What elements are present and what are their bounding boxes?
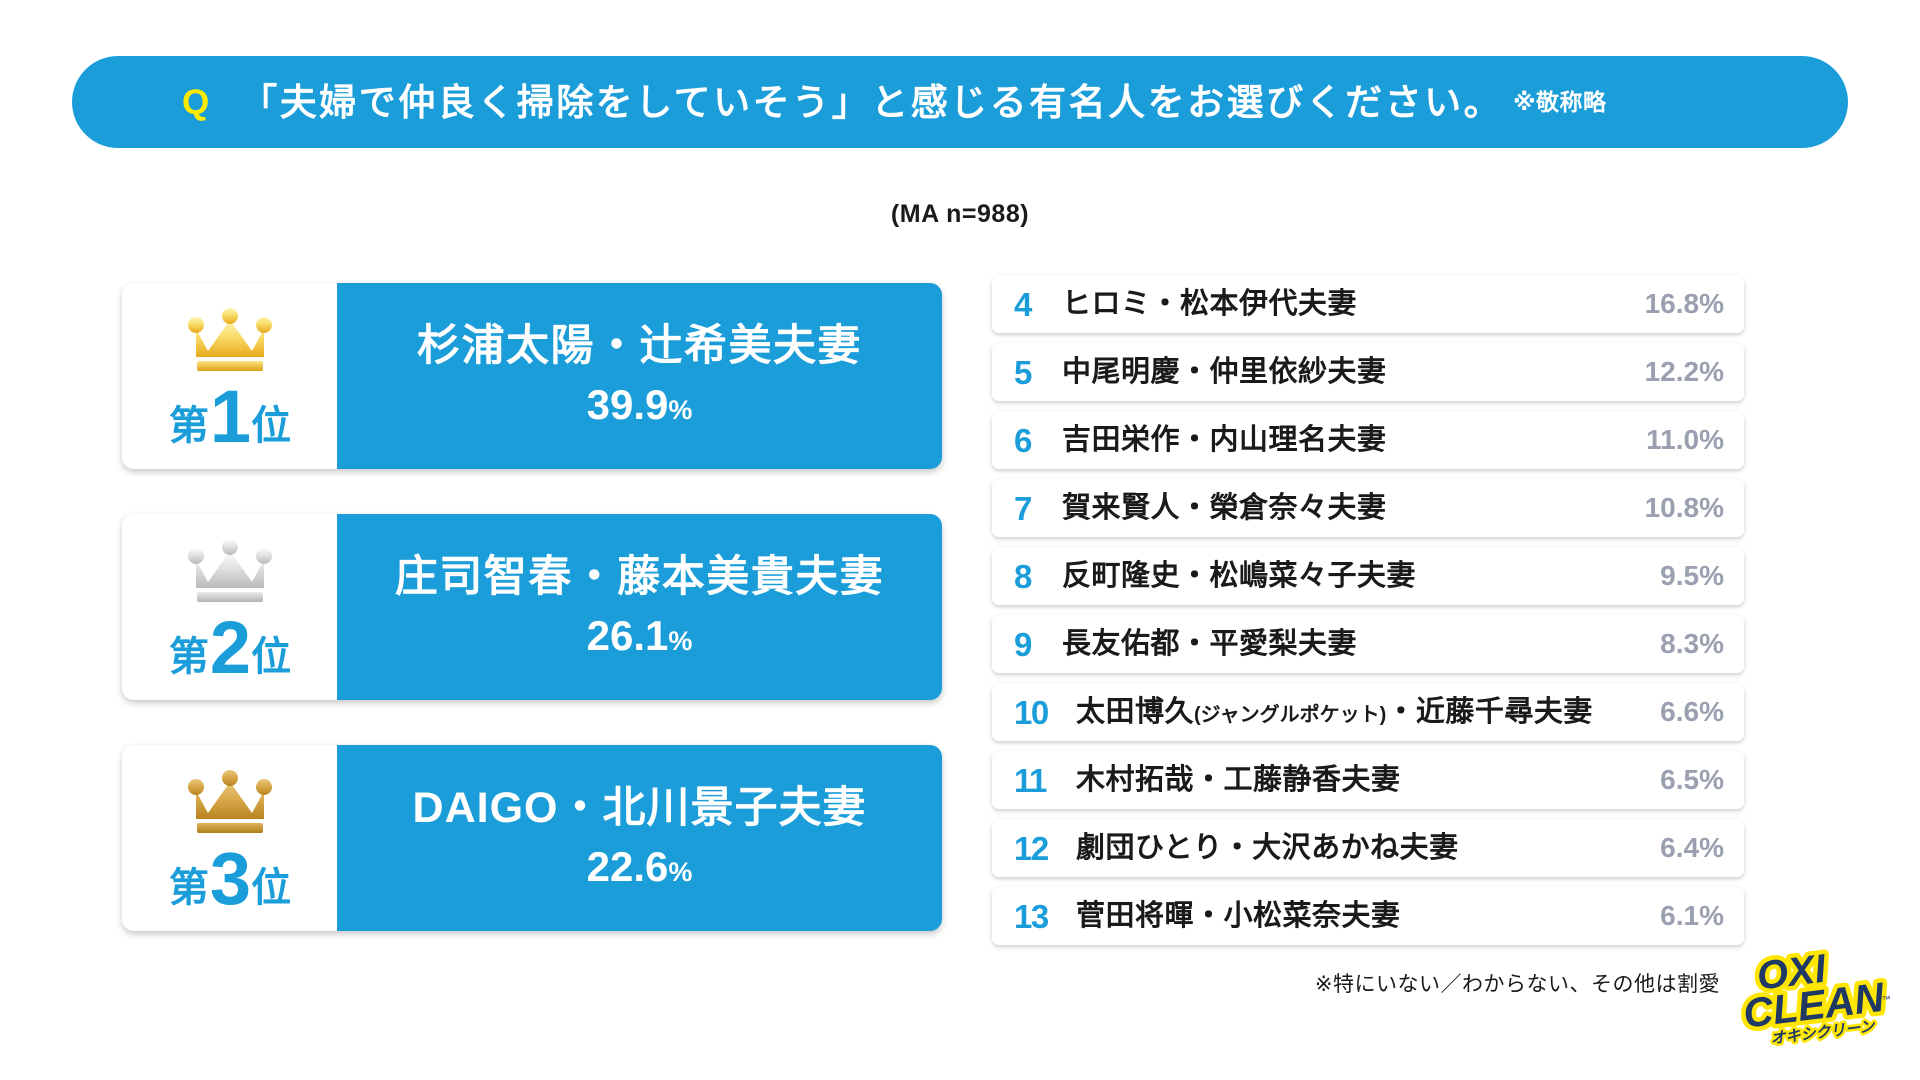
podium-pct-value-3: 22.6 (587, 843, 669, 890)
rank-label-2: 第 2 位 (169, 608, 290, 682)
oxiclean-logo: OXI OXI CLEAN CLEAN ™ オキシクリーン オキシクリーン (1738, 938, 1908, 1054)
podium-name-2: 庄司智春・藤本美貴夫妻 (395, 553, 885, 602)
podium-percentage-1: 39.9% (587, 384, 693, 426)
rank-prefix: 第 (169, 637, 208, 677)
question-banner: Q 「夫婦で仲良く掃除をしていそう」と感じる有名人をお選びください。 ※敬称略 (72, 56, 1848, 148)
list-rank: 11 (1014, 764, 1072, 797)
list-name: 長友佑都・平愛梨夫妻 (1058, 630, 1660, 659)
gold-crown-icon (182, 307, 278, 375)
list-rank: 12 (1014, 832, 1072, 865)
list-rank: 9 (1014, 628, 1058, 661)
list-percentage: 10.8% (1645, 494, 1724, 522)
list-percentage: 6.1% (1660, 902, 1724, 930)
list-name: 劇団ひとり・大沢あかね夫妻 (1072, 834, 1660, 863)
podium-card-rank-2: 第 2 位 庄司智春・藤本美貴夫妻 26.1% (122, 514, 942, 700)
rank-suffix: 位 (251, 637, 290, 677)
bronze-crown-icon (182, 769, 278, 837)
list-name-main: 木村拓哉・工藤静香夫妻 (1076, 764, 1401, 796)
podium-body-2: 庄司智春・藤本美貴夫妻 26.1% (337, 514, 942, 700)
list-percentage: 12.2% (1645, 358, 1724, 386)
podium-card-rank-3: 第 3 位 DAIGO・北川景子夫妻 22.6% (122, 745, 942, 931)
list-name-tail: ・近藤千尋夫妻 (1386, 696, 1593, 728)
svg-text:™: ™ (1881, 994, 1891, 1005)
list-name: 太田博久(ジャングルポケット)・近藤千尋夫妻 (1072, 698, 1660, 727)
list-item: 8 反町隆史・松嶋菜々子夫妻 9.5% (992, 547, 1744, 605)
list-name-main: 中尾明慶・仲里依紗夫妻 (1062, 356, 1387, 388)
footnote-text: ※特にいない／わからない、その他は割愛 (1315, 968, 1720, 998)
list-item: 11 木村拓哉・工藤静香夫妻 6.5% (992, 751, 1744, 809)
rank-badge-3: 第 3 位 (122, 745, 337, 931)
podium-pct-symbol-2: % (668, 626, 692, 656)
question-text: 「夫婦で仲良く掃除をしていそう」と感じる有名人をお選びください。 (240, 84, 1503, 121)
list-name: 中尾明慶・仲里依紗夫妻 (1058, 358, 1645, 387)
rank-badge-1: 第 1 位 (122, 283, 337, 469)
list-rank: 7 (1014, 492, 1058, 525)
list-name: 木村拓哉・工藤静香夫妻 (1072, 766, 1660, 795)
rank-number: 1 (210, 380, 249, 454)
list-percentage: 6.6% (1660, 698, 1724, 726)
list-percentage: 16.8% (1645, 290, 1724, 318)
list-name: 吉田栄作・内山理名夫妻 (1058, 426, 1646, 455)
list-rank: 10 (1014, 696, 1072, 729)
podium-pct-symbol-1: % (668, 395, 692, 425)
rank-suffix: 位 (251, 868, 290, 908)
podium-pct-value-2: 26.1 (587, 612, 669, 659)
list-name-main: 菅田将暉・小松菜奈夫妻 (1076, 900, 1401, 932)
podium-body-1: 杉浦太陽・辻希美夫妻 39.9% (337, 283, 942, 469)
list-name: 反町隆史・松嶋菜々子夫妻 (1058, 562, 1660, 591)
list-name-main: 劇団ひとり・大沢あかね夫妻 (1076, 832, 1459, 864)
honorific-omitted-note: ※敬称略 (1513, 91, 1606, 114)
list-item: 7 賀来賢人・榮倉奈々夫妻 10.8% (992, 479, 1744, 537)
list-percentage: 6.4% (1660, 834, 1724, 862)
list-item: 9 長友佑都・平愛梨夫妻 8.3% (992, 615, 1744, 673)
list-name-main: 反町隆史・松嶋菜々子夫妻 (1062, 560, 1416, 592)
list-percentage: 9.5% (1660, 562, 1724, 590)
list-name-main: ヒロミ・松本伊代夫妻 (1062, 288, 1357, 320)
list-item: 13 菅田将暉・小松菜奈夫妻 6.1% (992, 887, 1744, 945)
list-percentage: 11.0% (1646, 426, 1724, 454)
podium-pct-value-1: 39.9 (587, 381, 669, 428)
list-name: 菅田将暉・小松菜奈夫妻 (1072, 902, 1660, 931)
rank-number: 2 (210, 611, 249, 685)
podium-pct-symbol-3: % (668, 857, 692, 887)
list-name: 賀来賢人・榮倉奈々夫妻 (1058, 494, 1645, 523)
sample-size-label: (MA n=988) (0, 200, 1920, 229)
rank-label-1: 第 1 位 (169, 377, 290, 451)
list-rank: 6 (1014, 424, 1058, 457)
rank-suffix: 位 (251, 406, 290, 446)
rank-prefix: 第 (169, 406, 208, 446)
list-item: 12 劇団ひとり・大沢あかね夫妻 6.4% (992, 819, 1744, 877)
podium-name-3: DAIGO・北川景子夫妻 (413, 784, 867, 833)
list-name-main: 太田博久 (1076, 696, 1194, 728)
list-percentage: 8.3% (1660, 630, 1724, 658)
list-name-main: 賀来賢人・榮倉奈々夫妻 (1062, 492, 1387, 524)
rank-number: 3 (210, 842, 249, 916)
list-item: 4 ヒロミ・松本伊代夫妻 16.8% (992, 275, 1744, 333)
rank-label-3: 第 3 位 (169, 839, 290, 913)
list-name: ヒロミ・松本伊代夫妻 (1058, 290, 1645, 319)
list-name-subtext: (ジャングルポケット) (1194, 704, 1386, 726)
podium-body-3: DAIGO・北川景子夫妻 22.6% (337, 745, 942, 931)
question-mark-label: Q (182, 85, 210, 120)
rank-prefix: 第 (169, 868, 208, 908)
list-rank: 5 (1014, 356, 1058, 389)
ranking-list: 4 ヒロミ・松本伊代夫妻 16.8% 5 中尾明慶・仲里依紗夫妻 12.2% 6… (992, 275, 1744, 955)
podium-card-rank-1: 第 1 位 杉浦太陽・辻希美夫妻 39.9% (122, 283, 942, 469)
list-item: 5 中尾明慶・仲里依紗夫妻 12.2% (992, 343, 1744, 401)
podium-name-1: 杉浦太陽・辻希美夫妻 (417, 322, 862, 371)
silver-crown-icon (182, 538, 278, 606)
list-name-main: 長友佑都・平愛梨夫妻 (1062, 628, 1357, 660)
rank-badge-2: 第 2 位 (122, 514, 337, 700)
list-item: 6 吉田栄作・内山理名夫妻 11.0% (992, 411, 1744, 469)
podium-container: 第 1 位 杉浦太陽・辻希美夫妻 39.9% (122, 283, 942, 976)
list-name-main: 吉田栄作・内山理名夫妻 (1062, 424, 1387, 456)
list-percentage: 6.5% (1660, 766, 1724, 794)
list-rank: 4 (1014, 288, 1058, 321)
list-rank: 8 (1014, 560, 1058, 593)
podium-percentage-2: 26.1% (587, 615, 693, 657)
list-item: 10 太田博久(ジャングルポケット)・近藤千尋夫妻 6.6% (992, 683, 1744, 741)
podium-percentage-3: 22.6% (587, 846, 693, 888)
list-rank: 13 (1014, 900, 1072, 933)
